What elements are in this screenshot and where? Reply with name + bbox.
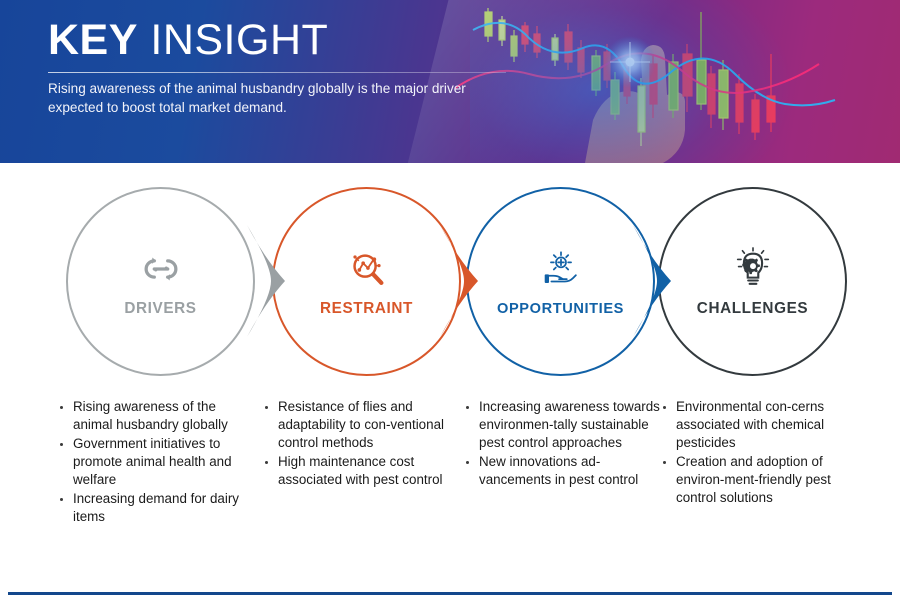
bullet-list-challenges: Environmental con-cerns associated with … <box>660 398 870 507</box>
bullet-columns: Rising awareness of the animal husbandry… <box>0 398 900 548</box>
title-divider <box>48 72 506 73</box>
stage-circle-row: DRIVERS <box>0 163 900 393</box>
footer-divider <box>8 592 892 595</box>
stage-circle-opportunities-content: OPPORTUNITIES <box>468 189 653 374</box>
lightbulb-gear-icon <box>730 246 776 292</box>
stage-circle-restraint[interactable]: RESTRAINT <box>272 187 461 376</box>
list-item: Increasing awareness towards environmen-… <box>463 398 668 452</box>
chevron-arrow-restraint-to-opportunities <box>438 225 484 337</box>
page-title: KEY INSIGHT <box>48 18 328 63</box>
bullet-list-opportunities: Increasing awareness towards environmen-… <box>463 398 668 489</box>
list-item: Environmental con-cerns associated with … <box>660 398 870 452</box>
stage-circle-opportunities[interactable]: OPPORTUNITIES <box>466 187 655 376</box>
list-item: New innovations ad-vancements in pest co… <box>463 453 668 489</box>
list-item: Rising awareness of the animal husbandry… <box>57 398 257 434</box>
infographic-page: KEY INSIGHT Rising awareness of the anim… <box>0 0 900 602</box>
stage-label-opportunities: OPPORTUNITIES <box>497 301 624 317</box>
stage-label-restraint: RESTRAINT <box>320 300 413 318</box>
stage-label-challenges: CHALLENGES <box>697 300 808 318</box>
candlestick-chart-graphic <box>455 0 900 163</box>
stage-label-drivers: DRIVERS <box>124 300 196 318</box>
chevron-arrow-opportunities-to-challenges <box>631 225 677 337</box>
bullet-list-restraint: Resistance of flies and adaptability to … <box>262 398 462 489</box>
bullet-column-challenges: Environmental con-cerns associated with … <box>660 398 870 508</box>
cycle-arrows-icon <box>138 246 184 292</box>
stage-circle-drivers-content: DRIVERS <box>68 189 253 374</box>
chevron-arrow-drivers-to-restraint <box>245 225 291 337</box>
list-item: Government initiatives to promote animal… <box>57 435 257 489</box>
stage-circle-drivers[interactable]: DRIVERS <box>66 187 255 376</box>
list-item: High maintenance cost associated with pe… <box>262 453 462 489</box>
magnifier-analytics-icon <box>344 246 390 292</box>
bullet-list-drivers: Rising awareness of the animal husbandry… <box>57 398 257 526</box>
page-title-bold: KEY <box>48 16 138 64</box>
list-item: Resistance of flies and adaptability to … <box>262 398 462 452</box>
stage-circle-challenges-content: CHALLENGES <box>660 189 845 374</box>
bullet-column-drivers: Rising awareness of the animal husbandry… <box>57 398 257 527</box>
header-banner: KEY INSIGHT Rising awareness of the anim… <box>0 0 900 163</box>
page-subtitle: Rising awareness of the animal husbandry… <box>48 80 518 118</box>
stage-circle-restraint-content: RESTRAINT <box>274 189 459 374</box>
hand-holding-sun-icon <box>538 247 584 293</box>
page-title-light: INSIGHT <box>138 16 328 64</box>
list-item: Creation and adoption of environ-ment-fr… <box>660 453 870 507</box>
bullet-column-restraint: Resistance of flies and adaptability to … <box>262 398 462 490</box>
stage-circle-challenges[interactable]: CHALLENGES <box>658 187 847 376</box>
bullet-column-opportunities: Increasing awareness towards environmen-… <box>463 398 668 490</box>
list-item: Increasing demand for dairy items <box>57 490 257 526</box>
